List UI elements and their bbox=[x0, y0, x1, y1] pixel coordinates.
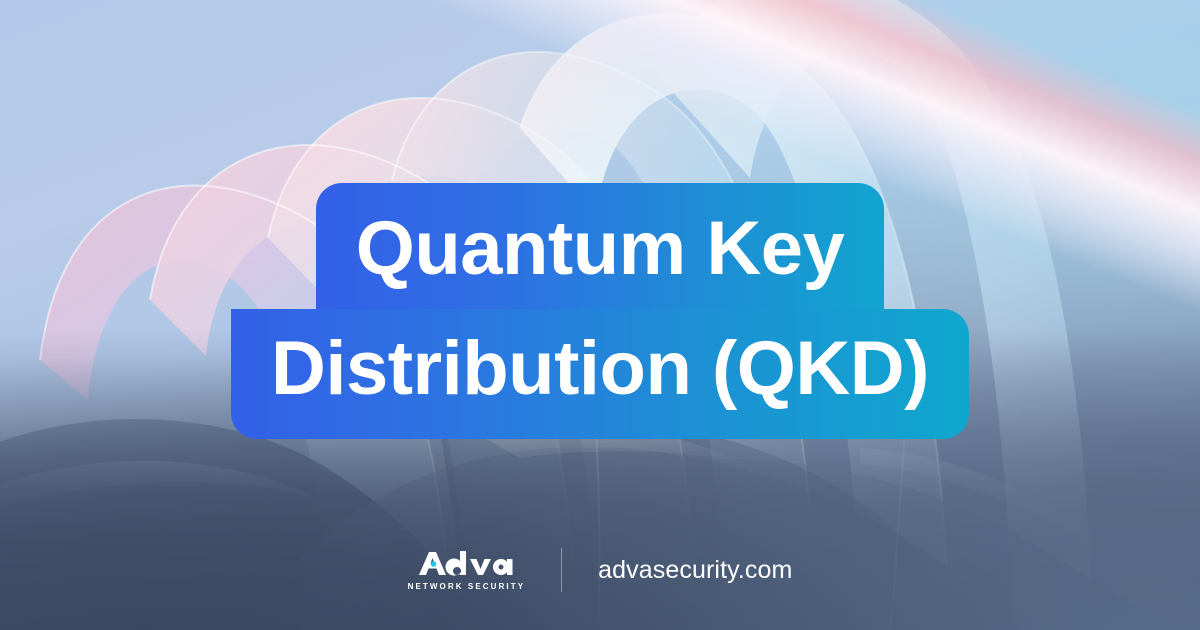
title-line-1: Quantum Key bbox=[316, 183, 885, 311]
page-title: Quantum Key Distribution (QKD) bbox=[0, 183, 1200, 439]
social-share-card: Quantum Key Distribution (QKD) NETWORK S… bbox=[0, 0, 1200, 630]
logo-tagline: NETWORK SECURITY bbox=[408, 582, 526, 591]
footer-bar: NETWORK SECURITY advasecurity.com bbox=[0, 548, 1200, 592]
website-url[interactable]: advasecurity.com bbox=[598, 556, 792, 585]
adva-logo-icon bbox=[418, 549, 514, 579]
brand-logo[interactable]: NETWORK SECURITY bbox=[408, 549, 526, 591]
title-line-2: Distribution (QKD) bbox=[231, 309, 969, 439]
footer-divider bbox=[561, 548, 562, 592]
